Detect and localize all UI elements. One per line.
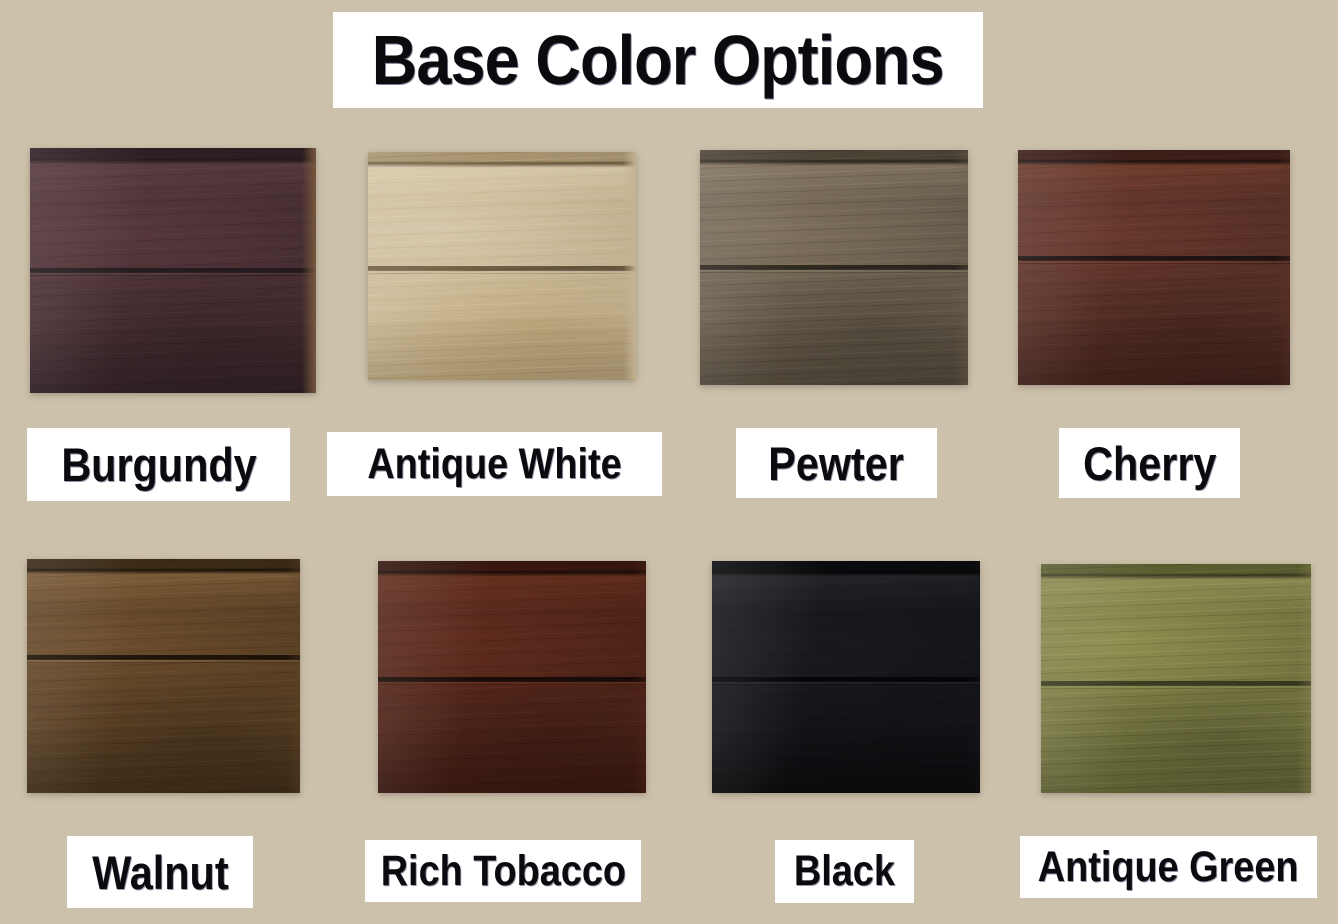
color-name-pewter: Pewter	[769, 440, 905, 487]
plank-groove	[378, 677, 646, 685]
board-side-edge	[1276, 150, 1290, 385]
plank-top-lip	[700, 150, 968, 166]
plank-top-lip	[712, 561, 980, 577]
color-name-antique-green: Antique Green	[1038, 846, 1299, 889]
color-swatch-rich-tobacco[interactable]	[378, 561, 646, 793]
board-side-edge	[623, 152, 636, 380]
plank-groove	[368, 266, 636, 274]
plank-top-lip	[378, 561, 646, 577]
color-name-plate-burgundy: Burgundy	[27, 428, 290, 501]
swatch-face	[1018, 150, 1290, 385]
plank-top-lip	[1041, 564, 1311, 580]
color-name-plate-antique-white: Antique White	[327, 432, 662, 496]
plank-groove	[1018, 256, 1290, 264]
plank-top-lip	[368, 152, 636, 168]
color-name-black: Black	[794, 850, 895, 893]
board-side-edge	[286, 559, 300, 793]
board-side-edge	[302, 148, 316, 393]
color-name-plate-antique-green: Antique Green	[1020, 836, 1317, 898]
board-side-edge	[1298, 564, 1312, 793]
board-side-edge	[633, 561, 646, 793]
page-title: Base Color Options	[372, 25, 944, 95]
plank-groove	[1041, 681, 1311, 689]
color-swatch-burgundy[interactable]	[30, 148, 316, 393]
color-name-plate-walnut: Walnut	[67, 836, 253, 908]
plank-groove	[30, 268, 316, 276]
swatch-face	[27, 559, 300, 793]
plank-top-lip	[1018, 150, 1290, 166]
color-name-burgundy: Burgundy	[61, 441, 256, 488]
color-name-plate-rich-tobacco: Rich Tobacco	[365, 840, 641, 902]
board-side-edge	[955, 150, 968, 385]
plank-groove	[712, 677, 980, 685]
color-swatch-cherry[interactable]	[1018, 150, 1290, 385]
plank-groove	[700, 265, 968, 273]
color-options-board: Base Color Options Burgundy	[0, 0, 1338, 924]
plank-top-lip	[30, 148, 316, 165]
color-name-plate-black: Black	[775, 840, 914, 903]
color-swatch-antique-white[interactable]	[368, 152, 636, 380]
color-name-plate-pewter: Pewter	[736, 428, 937, 498]
color-name-cherry: Cherry	[1083, 440, 1216, 487]
plank-top-lip	[27, 559, 300, 575]
page-title-plate: Base Color Options	[333, 12, 983, 108]
color-name-plate-cherry: Cherry	[1059, 428, 1240, 498]
plank-groove	[27, 655, 300, 663]
color-name-walnut: Walnut	[92, 849, 228, 896]
color-name-rich-tobacco: Rich Tobacco	[380, 850, 625, 893]
color-swatch-antique-green[interactable]	[1041, 564, 1311, 793]
color-name-antique-white: Antique White	[367, 443, 621, 486]
board-side-edge	[967, 561, 980, 793]
swatch-face	[1041, 564, 1311, 793]
color-swatch-pewter[interactable]	[700, 150, 968, 385]
color-swatch-black[interactable]	[712, 561, 980, 793]
color-swatch-walnut[interactable]	[27, 559, 300, 793]
